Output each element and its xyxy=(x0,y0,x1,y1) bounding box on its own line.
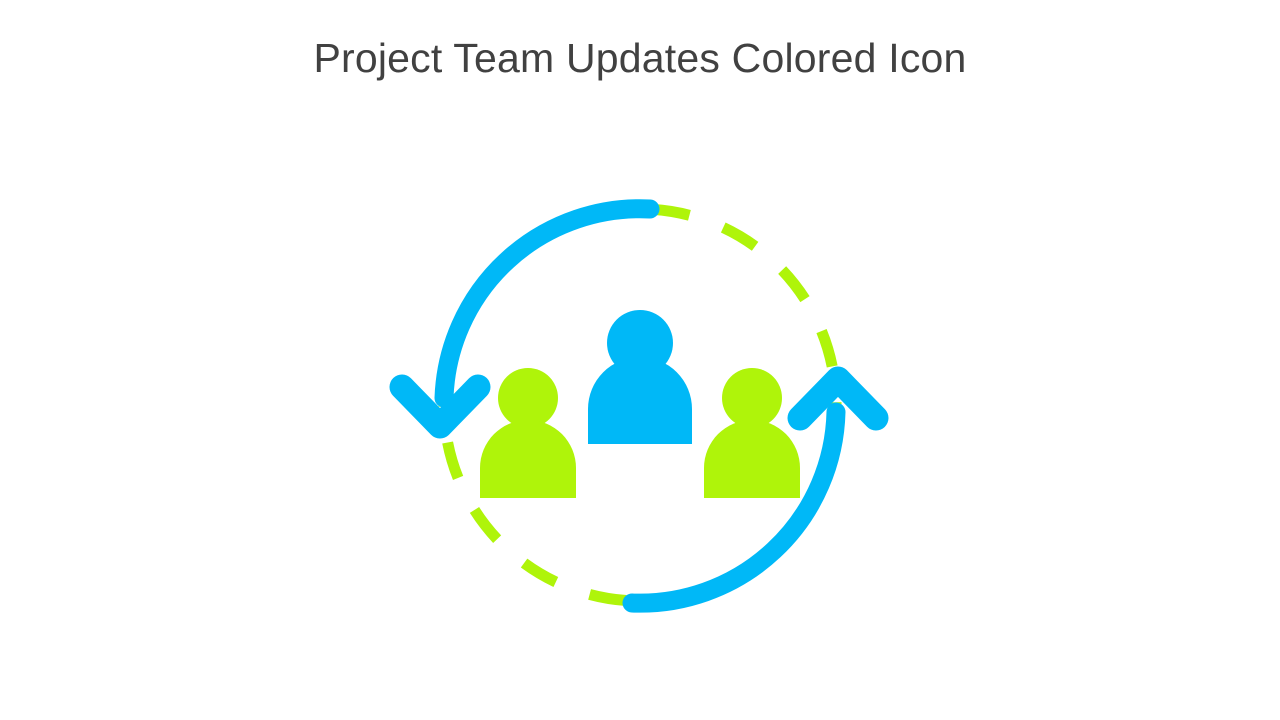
slide-canvas: Project Team Updates Colored Icon Projec… xyxy=(0,0,1280,720)
page-title: Project Team Updates Colored Icon xyxy=(0,30,1280,86)
person-right-green xyxy=(704,368,800,498)
person-center-blue xyxy=(588,310,692,444)
person-left-green xyxy=(480,368,576,498)
icon-container: Project Team Updates Colored Icon xyxy=(340,150,940,670)
project-team-updates-colored-icon: Project Team Updates Colored Icon xyxy=(340,150,940,670)
